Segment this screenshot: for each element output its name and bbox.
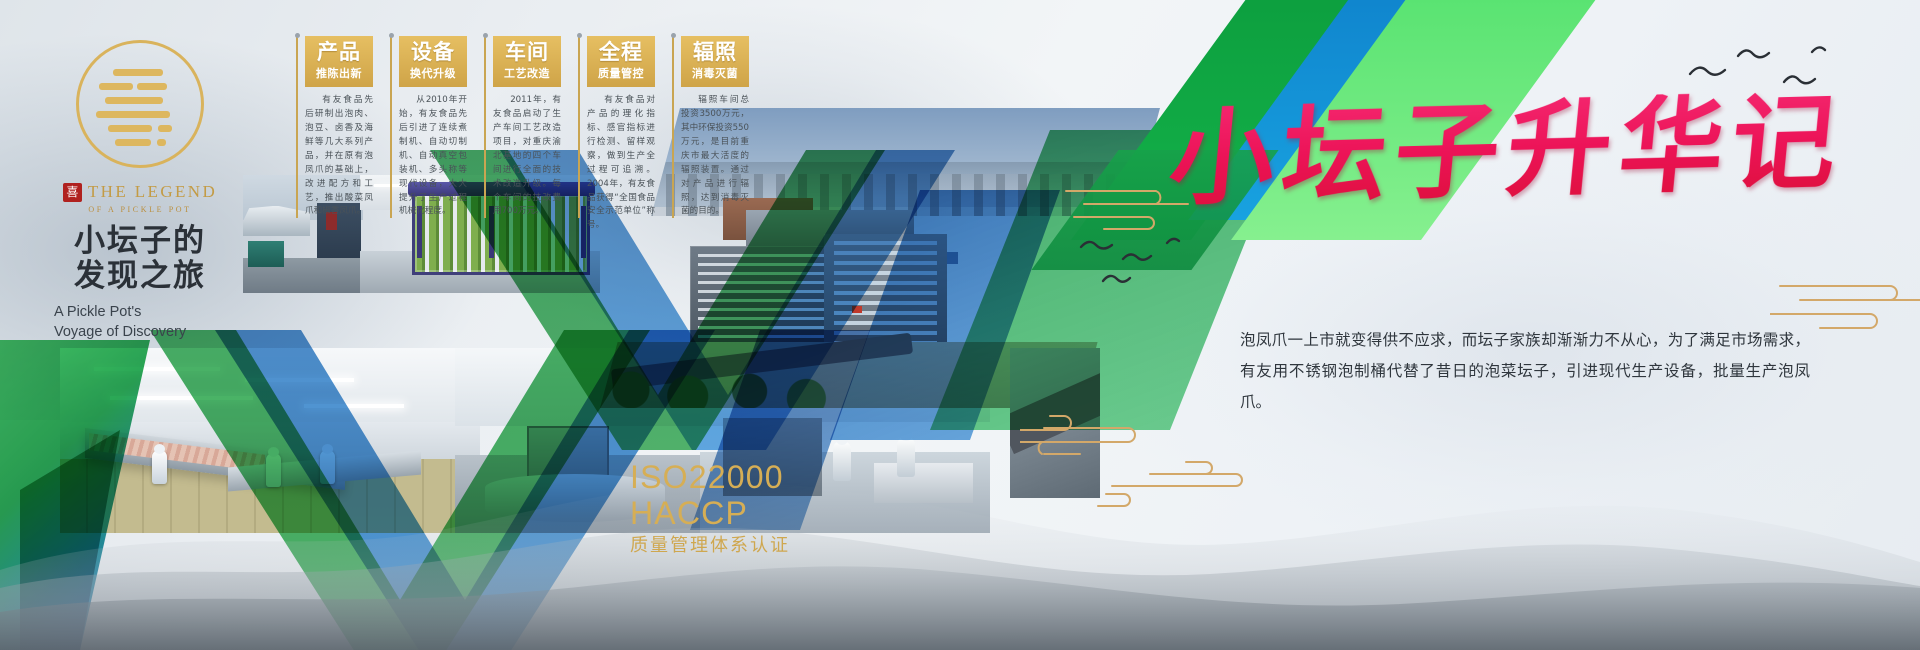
- brand-title-en: A Pickle Pot's Voyage of Discovery: [40, 302, 240, 342]
- poster-canvas: THE LEGEND OF A PICKLE POT 小坛子的 发现之旅 A P…: [0, 0, 1920, 650]
- card-rail: [484, 36, 486, 218]
- brand-title-cn-line1: 小坛子的: [40, 224, 240, 259]
- card-title: 全程: [591, 41, 651, 63]
- card-body: 有友食品对产品的理化指标、感官指标进行检测、留样观察，做到生产全过程可追溯。20…: [587, 94, 655, 233]
- card-body: 辐照车间总投资3500万元，其中环保投资550万元，是目前重庆市最大活度的辐照装…: [681, 94, 749, 219]
- card-header: 全程 质量管控: [587, 36, 655, 87]
- certification-line2: HACCP: [630, 496, 790, 532]
- info-card: 辐照 消毒灭菌 辐照车间总投资3500万元，其中环保投资550万元，是目前重庆市…: [681, 36, 749, 233]
- body-paragraph: 泡凤爪一上市就变得供不应求，而坛子家族却渐渐力不从心，为了满足市场需求，有友用不…: [1240, 325, 1810, 418]
- card-subtitle: 工艺改造: [497, 65, 557, 81]
- card-header: 产品 推陈出新: [305, 36, 373, 87]
- card-title: 产品: [309, 41, 369, 63]
- brand-title-cn: 小坛子的 发现之旅: [40, 224, 240, 295]
- card-header: 车间 工艺改造: [493, 36, 561, 87]
- card-header: 辐照 消毒灭菌: [681, 36, 749, 87]
- card-rail: [672, 36, 674, 218]
- info-card: 全程 质量管控 有友食品对产品的理化指标、感官指标进行检测、留样观察，做到生产全…: [587, 36, 655, 233]
- brand-title-en-line1: A Pickle Pot's: [54, 302, 240, 322]
- info-card-list: 产品 推陈出新 有友食品先后研制出泡肉、泡豆、卤香及海鲜等几大系列产品，并在原有…: [305, 36, 749, 233]
- page-title: 小坛子升华记: [1163, 89, 1868, 237]
- certification-line3: 质量管理体系认证: [630, 536, 790, 556]
- card-title: 设备: [403, 41, 463, 63]
- card-header: 设备 换代升级: [399, 36, 467, 87]
- card-subtitle: 质量管控: [591, 65, 651, 81]
- info-card: 设备 换代升级 从2010年开始，有友食品先后引进了连续煮制机、自动切制机、自动…: [399, 36, 467, 233]
- card-title: 车间: [497, 41, 557, 63]
- certification-line1: ISO22000: [630, 460, 790, 496]
- card-body: 2011年，有友食品启动了生产车间工艺改造项目，对重庆渝北基地的四个车间进行全面…: [493, 94, 561, 219]
- certification-block: ISO22000 HACCP 质量管理体系认证: [630, 460, 790, 556]
- card-subtitle: 换代升级: [403, 65, 463, 81]
- brand-title-cn-line2: 发现之旅: [40, 259, 240, 294]
- card-subtitle: 推陈出新: [309, 65, 369, 81]
- info-card: 产品 推陈出新 有友食品先后研制出泡肉、泡豆、卤香及海鲜等几大系列产品，并在原有…: [305, 36, 373, 233]
- card-rail: [578, 36, 580, 218]
- card-rail: [390, 36, 392, 218]
- brand-title-en-line2: Voyage of Discovery: [54, 322, 240, 342]
- card-subtitle: 消毒灭菌: [685, 65, 745, 81]
- card-rail: [296, 36, 298, 218]
- processing-hall-photo: [60, 348, 480, 533]
- card-body: 从2010年开始，有友食品先后引进了连续煮制机、自动切制机、自动真空包装机、多头…: [399, 94, 467, 219]
- legend-en-sub: OF A PICKLE POT: [40, 205, 240, 214]
- legend-en: THE LEGEND: [88, 182, 217, 202]
- card-body: 有友食品先后研制出泡肉、泡豆、卤香及海鲜等几大系列产品，并在原有泡凤爪的基础上，…: [305, 94, 373, 219]
- legend-lockup: THE LEGEND: [40, 182, 240, 202]
- pot-seal-emblem-icon: [76, 40, 204, 168]
- card-title: 辐照: [685, 41, 745, 63]
- red-seal-icon: [63, 183, 82, 202]
- info-card: 车间 工艺改造 2011年，有友食品启动了生产车间工艺改造项目，对重庆渝北基地的…: [493, 36, 561, 233]
- brand-block: THE LEGEND OF A PICKLE POT 小坛子的 发现之旅 A P…: [40, 40, 240, 342]
